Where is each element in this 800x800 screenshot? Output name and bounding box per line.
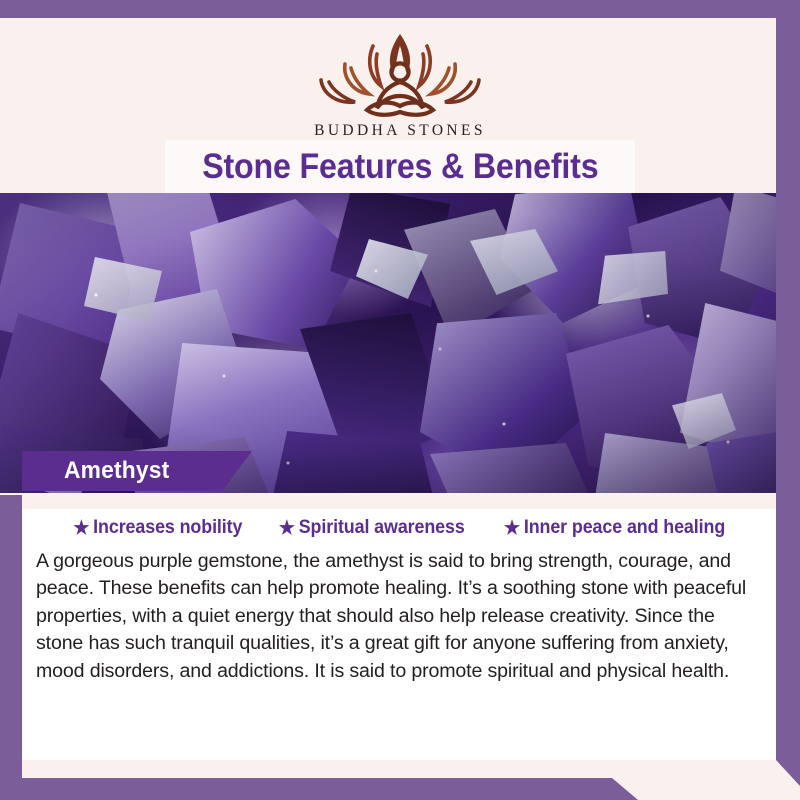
page-title: Stone Features & Benefits (202, 147, 598, 187)
benefit-label: Increases nobility (93, 517, 242, 539)
description-panel: ★ Increases nobility ★ Spiritual awarene… (22, 509, 778, 760)
brand-name: BUDDHA STONES (0, 122, 800, 140)
divider-strip (0, 493, 800, 509)
frame-bottom-corner (612, 778, 638, 800)
frame-right-corner (776, 760, 800, 786)
benefit-label: Spiritual awareness (299, 517, 465, 539)
frame-left-border (0, 495, 22, 800)
stone-description-text: A gorgeous purple gemstone, the amethyst… (36, 548, 766, 685)
frame-top-border (0, 0, 800, 18)
frame-right-border (776, 0, 800, 760)
amethyst-crystal-photo (0, 193, 800, 493)
benefit-item-2: ★ Spiritual awareness (279, 517, 465, 539)
stone-name-label: Amethyst (64, 457, 169, 485)
benefit-item-3: ★ Inner peace and healing (504, 517, 725, 539)
benefits-list: ★ Increases nobility ★ Spiritual awarene… (22, 509, 778, 539)
photo-vignette (0, 193, 800, 493)
lotus-meditation-logo-icon (307, 24, 493, 120)
star-icon: ★ (73, 519, 89, 538)
product-info-card: BUDDHA STONES Stone Features & Benefits … (0, 0, 800, 800)
benefit-item-1: ★ Increases nobility (73, 517, 242, 539)
brand-logo: BUDDHA STONES (0, 24, 800, 140)
frame-bottom-border (0, 778, 612, 800)
star-icon: ★ (279, 519, 295, 538)
section-title-band: Stone Features & Benefits (165, 140, 635, 193)
benefit-label: Inner peace and healing (524, 517, 725, 539)
star-icon: ★ (504, 519, 520, 538)
stone-name-banner: Amethyst (22, 451, 252, 491)
